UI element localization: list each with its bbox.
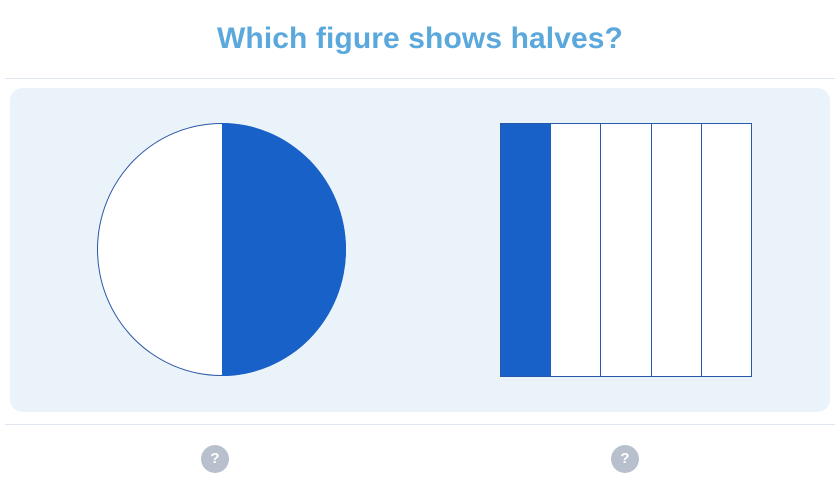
hint-row: ? ? xyxy=(10,424,830,501)
figures-panel xyxy=(10,88,830,412)
circle-filled-half xyxy=(222,123,347,376)
circle-divider-line xyxy=(222,123,223,376)
divider-top xyxy=(5,78,835,79)
rectangle-part-3 xyxy=(601,124,651,376)
page-title: Which figure shows halves? xyxy=(217,24,623,54)
hint-slot-right: ? xyxy=(420,424,830,501)
figure-option-circle[interactable] xyxy=(10,88,420,412)
rectangle-part-4 xyxy=(652,124,702,376)
hint-button-right[interactable]: ? xyxy=(611,445,639,473)
hint-button-left[interactable]: ? xyxy=(201,445,229,473)
rectangle-part-1 xyxy=(501,124,551,376)
rectangle-figure[interactable] xyxy=(500,123,752,377)
rectangle-part-5 xyxy=(702,124,751,376)
figure-option-rectangle[interactable] xyxy=(420,88,830,412)
rectangle-part-2 xyxy=(551,124,601,376)
question-header: Which figure shows halves? xyxy=(0,0,840,78)
hint-slot-left: ? xyxy=(10,424,420,501)
circle-figure[interactable] xyxy=(97,123,346,376)
